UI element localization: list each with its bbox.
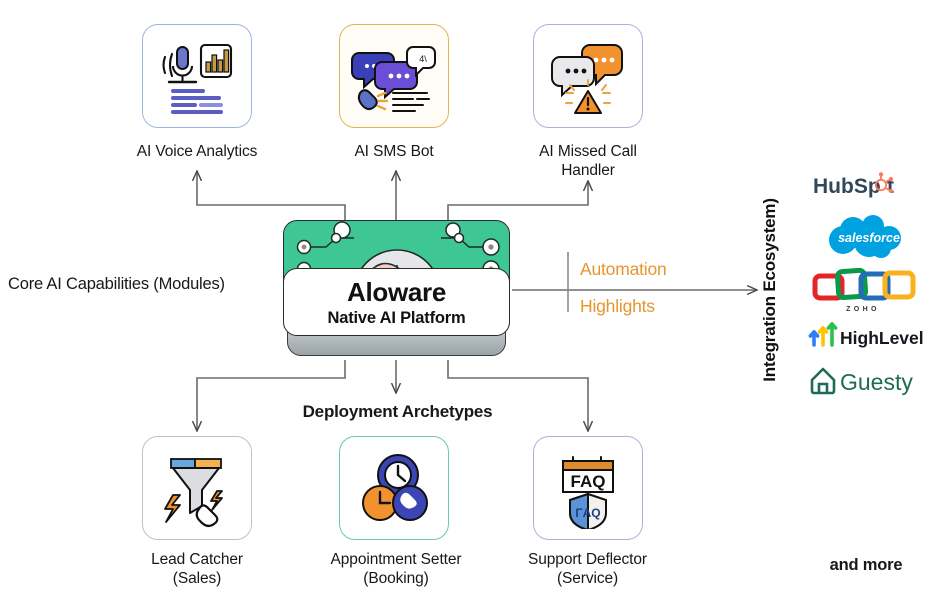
- archetype-card-appointment-setter[interactable]: [339, 436, 449, 540]
- archetype-card-lead-catcher[interactable]: [142, 436, 252, 540]
- integration-and-more-label: and more: [800, 556, 932, 575]
- archetype-label-line1: Support Deflector: [528, 551, 647, 568]
- center-platform[interactable]: AI Aloware Native AI Platform: [283, 220, 510, 360]
- svg-text:Guesty: Guesty: [840, 369, 913, 395]
- chat-bubbles-alert-icon: [546, 35, 630, 117]
- integration-logo-list: HubSp t salesforce: [800, 168, 937, 413]
- archetype-label-line1: Appointment Setter: [331, 551, 462, 568]
- funnel-phone-bolt-icon: [155, 447, 239, 529]
- svg-text:HubSp: HubSp: [813, 175, 881, 198]
- faq-shield-icon: FAQ ΓAQ: [546, 447, 630, 529]
- svg-text:ZOHO: ZOHO: [846, 306, 880, 313]
- automation-highlights-line1: Automation: [580, 259, 667, 280]
- salesforce-logo[interactable]: salesforce: [800, 212, 937, 260]
- platform-name-card: Aloware Native AI Platform: [283, 268, 510, 336]
- chat-bubbles-phone-icon: 4\: [351, 35, 437, 117]
- archetype-card-support-deflector[interactable]: FAQ ΓAQ: [533, 436, 643, 540]
- archetype-label-appointment-setter: Appointment Setter (Booking): [306, 550, 486, 588]
- automation-highlights-line2: Highlights: [580, 296, 655, 317]
- zoho-logo[interactable]: ZOHO: [800, 264, 937, 314]
- clock-phone-icon: [352, 447, 436, 529]
- archetype-label-line1: Lead Catcher: [151, 551, 243, 568]
- highlevel-logo[interactable]: HighLevel: [800, 318, 937, 352]
- module-card-ai-voice-analytics[interactable]: [142, 24, 252, 128]
- integration-ecosystem-title: Integration Ecosystem): [760, 165, 780, 415]
- svg-text:4\: 4\: [419, 54, 427, 64]
- module-label-line1: AI SMS Bot: [354, 143, 433, 160]
- faq-shield-text: ΓAQ: [575, 506, 600, 520]
- archetype-label-line2: (Sales): [173, 570, 221, 587]
- platform-title: Aloware: [347, 277, 446, 308]
- module-card-ai-sms-bot[interactable]: 4\: [339, 24, 449, 128]
- core-capabilities-label: Core AI Capabilities (Modules): [8, 275, 274, 294]
- guesty-logo[interactable]: Guesty: [800, 362, 937, 398]
- module-label-ai-missed-call-handler: AI Missed Call Handler: [503, 142, 673, 180]
- svg-text:HighLevel: HighLevel: [840, 328, 924, 348]
- module-label-line2: Handler: [561, 162, 615, 179]
- hubspot-logo[interactable]: HubSp t: [800, 168, 937, 204]
- faq-board-text: FAQ: [571, 472, 606, 491]
- diagram-canvas: AI Voice Analytics 4\ AI SMS: [0, 0, 937, 602]
- microphone-chart-icon: [155, 35, 239, 117]
- module-label-line1: AI Missed Call: [539, 143, 637, 160]
- archetype-label-lead-catcher: Lead Catcher (Sales): [122, 550, 272, 588]
- archetype-label-support-deflector: Support Deflector (Service): [500, 550, 675, 588]
- deployment-archetypes-label: Deployment Archetypes: [265, 402, 530, 422]
- archetype-label-line2: (Service): [557, 570, 618, 587]
- module-label-ai-voice-analytics: AI Voice Analytics: [112, 142, 282, 161]
- svg-text:salesforce: salesforce: [838, 231, 900, 245]
- archetype-label-line2: (Booking): [363, 570, 428, 587]
- module-label-ai-sms-bot: AI SMS Bot: [324, 142, 464, 161]
- module-label-line1: AI Voice Analytics: [137, 143, 258, 160]
- platform-subtitle: Native AI Platform: [328, 309, 466, 328]
- module-card-ai-missed-call-handler[interactable]: [533, 24, 643, 128]
